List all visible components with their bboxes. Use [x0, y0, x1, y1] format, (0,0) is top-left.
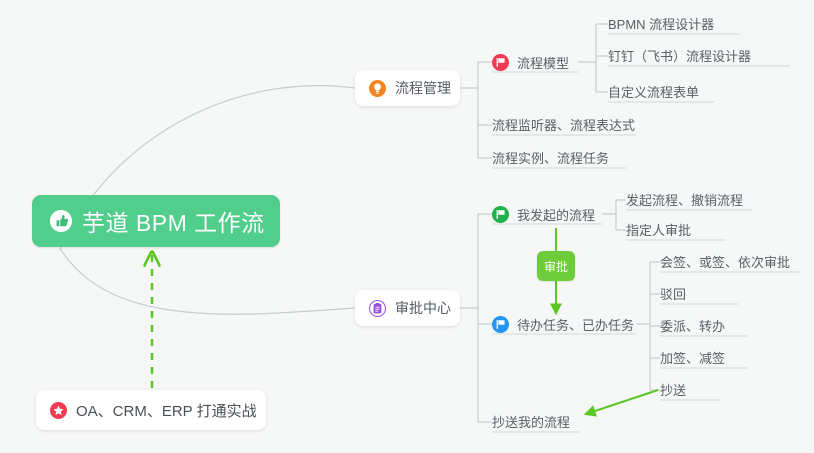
- wire-root-to-shenpi-zhongxin: [60, 248, 355, 314]
- node-add-remove-sign[interactable]: 加签、减签: [660, 348, 725, 371]
- arrow-cc-to-ccme: [586, 390, 658, 414]
- node-label-liucheng-moxing: 流程模型: [517, 53, 569, 72]
- mindmap-canvas: 芋道 BPM 工作流 流程管理 审批中心: [0, 0, 814, 453]
- star-icon: [50, 402, 67, 419]
- node-label-custom-process-form: 自定义流程表单: [608, 82, 699, 101]
- node-instance-task[interactable]: 流程实例、流程任务: [492, 148, 609, 171]
- node-delegate-transfer[interactable]: 委派、转办: [660, 316, 725, 339]
- node-label-cc: 抄送: [660, 380, 686, 399]
- node-bpmn-designer[interactable]: BPMN 流程设计器: [608, 14, 714, 37]
- node-label-add-remove-sign: 加签、减签: [660, 348, 725, 367]
- node-label-my-started-process: 我发起的流程: [517, 205, 595, 224]
- node-label-delegate-transfer: 委派、转办: [660, 316, 725, 335]
- node-label-dingding-feishu-designer: 钉钉（飞书）流程设计器: [608, 46, 751, 65]
- node-dingding-feishu-designer[interactable]: 钉钉（飞书）流程设计器: [608, 46, 751, 69]
- root-node[interactable]: 芋道 BPM 工作流: [32, 195, 280, 247]
- note-label-oa-crm-erp: OA、CRM、ERP 打通实战: [76, 400, 257, 421]
- branch-label-shenpi-zhongxin: 审批中心: [395, 298, 451, 318]
- annotation-badge-label: 审批: [544, 258, 568, 275]
- node-label-reject: 驳回: [660, 284, 686, 303]
- node-listener-expression[interactable]: 流程监听器、流程表达式: [492, 115, 635, 138]
- node-custom-process-form[interactable]: 自定义流程表单: [608, 82, 699, 105]
- node-countersign-or-sequential[interactable]: 会签、或签、依次审批: [660, 252, 790, 275]
- node-start-cancel-process[interactable]: 发起流程、撤销流程: [626, 190, 743, 213]
- node-label-bpmn-designer: BPMN 流程设计器: [608, 14, 714, 33]
- branch-node-shenpi-zhongxin[interactable]: 审批中心: [355, 290, 460, 326]
- node-todo-done-task[interactable]: 待办任务、已办任务: [492, 315, 634, 338]
- flag-icon: [492, 206, 509, 223]
- node-label-todo-done-task: 待办任务、已办任务: [517, 315, 634, 334]
- node-my-started-process[interactable]: 我发起的流程: [492, 205, 595, 228]
- flag-icon: [492, 54, 509, 71]
- note-node-oa-crm-erp[interactable]: OA、CRM、ERP 打通实战: [36, 390, 266, 430]
- node-cc-to-me-process[interactable]: 抄送我的流程: [492, 412, 570, 435]
- node-liucheng-moxing[interactable]: 流程模型: [492, 53, 569, 76]
- node-label-assignee-approval: 指定人审批: [626, 220, 691, 239]
- node-cc[interactable]: 抄送: [660, 380, 686, 403]
- branch-label-liucheng-guanli: 流程管理: [395, 78, 451, 98]
- node-label-countersign-or-sequential: 会签、或签、依次审批: [660, 252, 790, 271]
- node-label-start-cancel-process: 发起流程、撤销流程: [626, 190, 743, 209]
- lightbulb-icon: [369, 80, 386, 97]
- root-label: 芋道 BPM 工作流: [82, 204, 265, 238]
- node-label-listener-expression: 流程监听器、流程表达式: [492, 115, 635, 134]
- thumbs-up-icon: [50, 210, 72, 232]
- branch-node-liucheng-guanli[interactable]: 流程管理: [355, 70, 460, 106]
- node-label-cc-to-me-process: 抄送我的流程: [492, 412, 570, 431]
- node-reject[interactable]: 驳回: [660, 284, 686, 307]
- node-label-instance-task: 流程实例、流程任务: [492, 148, 609, 167]
- annotation-badge-shenpi[interactable]: 审批: [537, 251, 575, 281]
- node-assignee-approval[interactable]: 指定人审批: [626, 220, 691, 243]
- flag-icon: [492, 316, 509, 333]
- clipboard-icon: [369, 300, 386, 317]
